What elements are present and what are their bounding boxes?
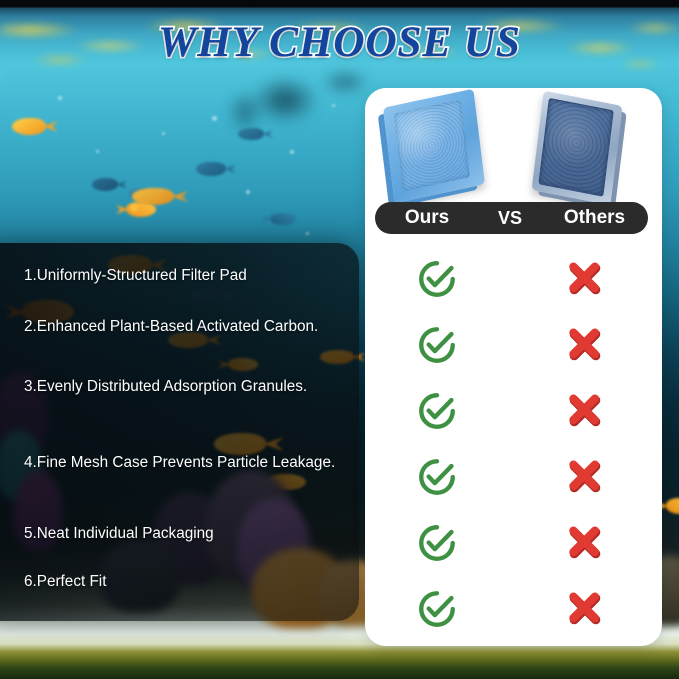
cross-icon — [565, 590, 605, 628]
check-circle-icon — [416, 324, 458, 366]
bubble-decoration — [332, 104, 335, 107]
comparison-row — [365, 378, 662, 444]
comparison-row — [365, 312, 662, 378]
feature-item: 2.Enhanced Plant-Based Activated Carbon. — [24, 318, 347, 336]
fish-decoration — [270, 213, 296, 225]
column-header-vs: VS — [479, 208, 541, 229]
comparison-row — [365, 444, 662, 510]
fish-decoration — [132, 188, 174, 205]
cross-icon — [565, 524, 605, 562]
bubble-decoration — [96, 150, 99, 153]
cross-icon — [565, 326, 605, 364]
comparison-row — [365, 246, 662, 312]
column-header-others: Others — [541, 207, 648, 229]
feature-item: 4.Fine Mesh Case Prevents Particle Leaka… — [24, 454, 347, 472]
ours-cell — [387, 510, 487, 576]
check-circle-icon — [416, 588, 458, 630]
others-cell — [535, 246, 635, 312]
bubble-decoration — [162, 132, 165, 135]
others-cell — [535, 312, 635, 378]
cross-icon — [565, 458, 605, 496]
check-circle-icon — [416, 390, 458, 432]
column-header-ours: Ours — [375, 207, 479, 229]
promo-banner: WHY CHOOSE US WHY CHOOSE US 1.Uniformly-… — [0, 0, 679, 679]
product-images — [365, 88, 662, 204]
others-cell — [535, 510, 635, 576]
bubble-decoration — [212, 116, 217, 121]
bubble-decoration — [290, 150, 294, 154]
fish-decoration — [196, 162, 226, 176]
check-circle-icon — [416, 522, 458, 564]
others-cell — [535, 378, 635, 444]
ours-cell — [387, 246, 487, 312]
comparison-header-bar: Ours VS Others — [375, 202, 648, 234]
bubble-decoration — [246, 190, 250, 194]
comparison-row — [365, 510, 662, 576]
fish-decoration — [12, 118, 46, 135]
comparison-card: Ours VS Others — [365, 88, 662, 646]
bubble-decoration — [58, 96, 62, 100]
feature-item: 5.Neat Individual Packaging — [24, 525, 347, 543]
feature-item: 3.Evenly Distributed Adsorption Granules… — [24, 378, 347, 396]
bubble-decoration — [306, 232, 309, 235]
ours-filter-pad-image — [383, 89, 485, 203]
others-filter-pad-image — [532, 91, 623, 206]
ours-cell — [387, 444, 487, 510]
pad-mesh-texture — [394, 99, 470, 191]
check-circle-icon — [416, 258, 458, 300]
ours-cell — [387, 312, 487, 378]
comparison-rows — [365, 246, 662, 642]
ours-cell — [387, 576, 487, 642]
features-panel: 1.Uniformly-Structured Filter Pad 2.Enha… — [0, 243, 359, 621]
feature-item: 1.Uniformly-Structured Filter Pad — [24, 267, 347, 285]
others-cell — [535, 444, 635, 510]
check-circle-icon — [416, 456, 458, 498]
feature-item: 6.Perfect Fit — [24, 573, 347, 591]
fish-decoration — [92, 178, 118, 191]
cross-icon — [565, 260, 605, 298]
comparison-row — [365, 576, 662, 642]
page-title: WHY CHOOSE US — [0, 18, 679, 67]
cross-icon — [565, 392, 605, 430]
others-cell — [535, 576, 635, 642]
fish-decoration — [666, 498, 679, 514]
fish-decoration — [238, 128, 264, 140]
pad-mesh-texture — [539, 98, 614, 197]
fish-decoration — [130, 204, 138, 212]
ours-cell — [387, 378, 487, 444]
